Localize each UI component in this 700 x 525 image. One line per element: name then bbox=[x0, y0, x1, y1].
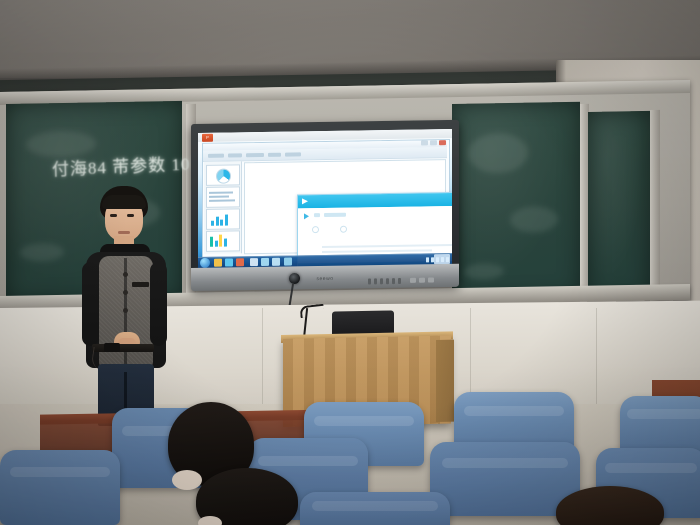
folder-icon[interactable] bbox=[250, 258, 258, 266]
presenter-arm-left bbox=[82, 262, 99, 346]
podium-side-panel bbox=[436, 340, 454, 422]
minimize-icon[interactable] bbox=[421, 140, 428, 145]
ribbon-tab-2[interactable] bbox=[228, 153, 242, 157]
blackboard-edge-right bbox=[650, 110, 660, 302]
pie-chart-thumb bbox=[216, 168, 231, 183]
presenter-eye-left bbox=[110, 214, 117, 217]
explorer-icon[interactable] bbox=[214, 259, 222, 267]
gooseneck-microphone-icon bbox=[299, 304, 324, 318]
slide-canvas[interactable] bbox=[244, 159, 446, 254]
app-icon-2[interactable] bbox=[272, 258, 280, 266]
interactive-display-screen[interactable]: P bbox=[198, 129, 452, 270]
slide-thumbnail[interactable] bbox=[206, 230, 240, 252]
close-icon[interactable] bbox=[439, 140, 446, 145]
powerpoint-icon-letter: P bbox=[203, 135, 212, 141]
display-brand-logo: seewo bbox=[305, 276, 345, 285]
display-control-buttons[interactable] bbox=[368, 276, 434, 284]
taskbar-clock[interactable] bbox=[434, 254, 450, 264]
ribbon-tab-4[interactable] bbox=[268, 153, 281, 157]
chalkboard-handwriting: 付海84 芾参数 10医院证据 bbox=[52, 149, 213, 190]
blackboard-panel-far-right bbox=[588, 111, 650, 300]
presenter-mouth bbox=[118, 231, 130, 234]
browser-icon[interactable] bbox=[225, 258, 233, 266]
bar-chart-thumb bbox=[211, 215, 228, 226]
presenter-arm-right bbox=[150, 262, 167, 346]
presenter-pocket bbox=[132, 282, 149, 287]
presenter bbox=[72, 186, 180, 426]
auditorium-seat[interactable] bbox=[300, 492, 450, 525]
auditorium-seat[interactable] bbox=[0, 450, 120, 525]
play-triangle-icon-small bbox=[304, 213, 309, 219]
app-icon[interactable] bbox=[261, 258, 269, 266]
ribbon-tab-5[interactable] bbox=[285, 152, 301, 156]
play-triangle-icon bbox=[302, 198, 308, 204]
student-neck bbox=[198, 516, 222, 525]
ribbon-tab-3[interactable] bbox=[246, 153, 264, 157]
classroom-photo: 付海84 芾参数 10医院证据 P bbox=[0, 0, 700, 525]
slide-thumbnail[interactable] bbox=[206, 164, 240, 186]
bar-chart-thumb-2 bbox=[210, 236, 227, 247]
presenter-eye-right bbox=[127, 214, 134, 217]
slide-thumbnail[interactable] bbox=[206, 186, 240, 208]
presenter-fringe bbox=[102, 195, 146, 209]
slide-thumbnail-pane[interactable] bbox=[204, 161, 242, 254]
app-icon-3[interactable] bbox=[284, 258, 292, 266]
student-neck bbox=[172, 470, 202, 490]
radio-option-icon[interactable] bbox=[312, 226, 319, 233]
ribbon-tab-1[interactable] bbox=[208, 154, 224, 158]
maximize-icon[interactable] bbox=[430, 140, 437, 145]
blackboard-panel-right bbox=[452, 102, 580, 300]
slide-thumbnail[interactable] bbox=[206, 208, 240, 230]
auditorium-seat[interactable] bbox=[620, 396, 700, 454]
radio-option-icon-2[interactable] bbox=[340, 226, 347, 233]
media-icon[interactable] bbox=[236, 258, 244, 266]
